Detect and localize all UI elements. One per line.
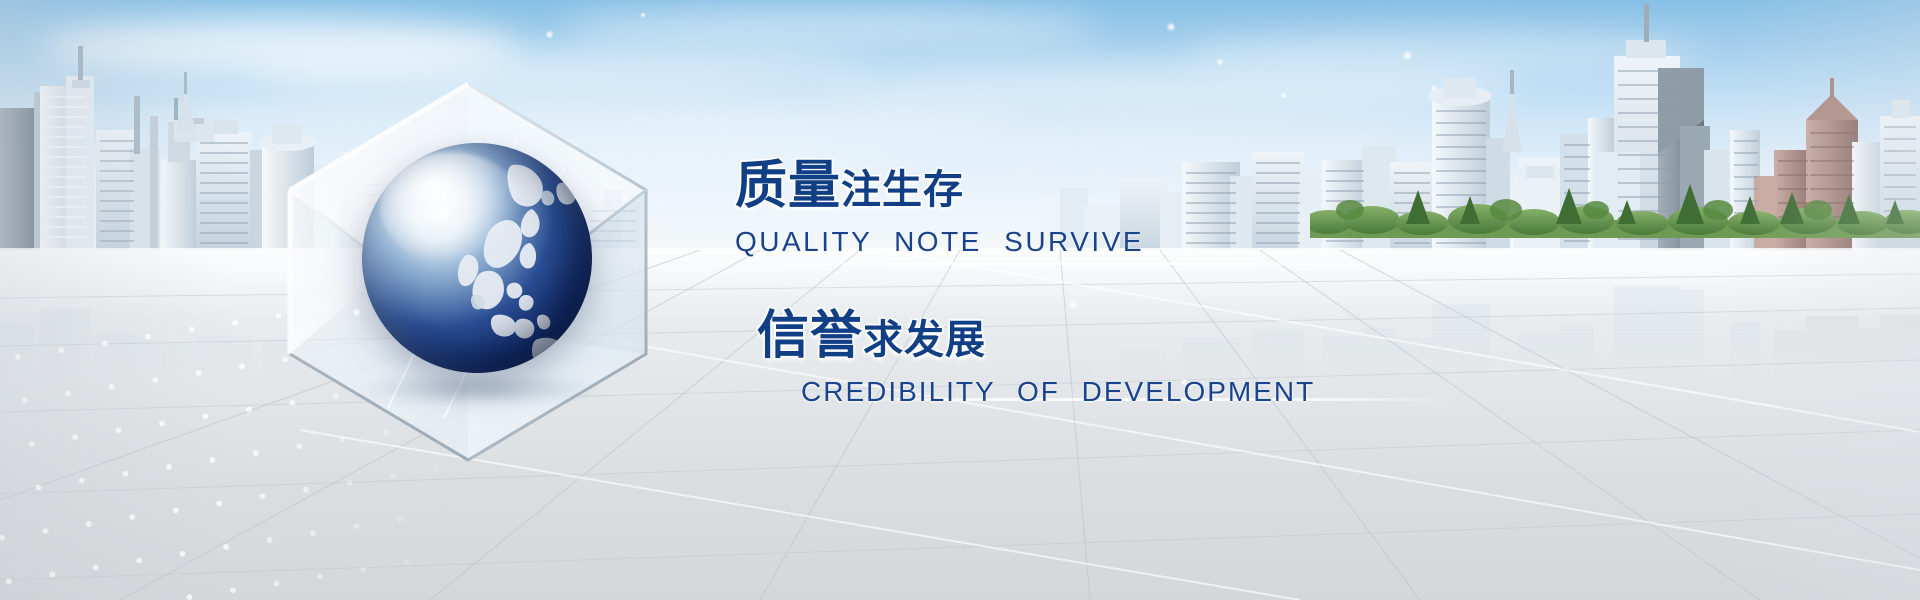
headline-quality: 质量 注生存 bbox=[735, 160, 1435, 212]
sparkle bbox=[1430, 84, 1438, 92]
slogan-text-block: 质量 注生存 QUALITY NOTE SURVIVE 信誉 求发展 CREDI… bbox=[735, 160, 1435, 408]
sparkle bbox=[436, 206, 450, 220]
headline-credibility-primary: 信誉 bbox=[757, 310, 863, 362]
sparkle bbox=[724, 268, 731, 275]
headline-credibility-secondary: 求发展 bbox=[863, 320, 986, 362]
subtitle-credibility: CREDIBILITY OF DEVELOPMENT bbox=[801, 376, 1435, 408]
sparkle bbox=[640, 12, 646, 18]
globe-rim-shading bbox=[362, 143, 592, 373]
sparkle bbox=[352, 308, 361, 317]
slogan-row-quality: 质量 注生存 QUALITY NOTE SURVIVE bbox=[735, 160, 1435, 258]
headline-quality-secondary: 注生存 bbox=[841, 170, 964, 212]
hero-banner: 质量 注生存 QUALITY NOTE SURVIVE 信誉 求发展 CREDI… bbox=[0, 0, 1920, 600]
slogan-row-credibility: 信誉 求发展 CREDIBILITY OF DEVELOPMENT bbox=[735, 310, 1435, 408]
globe-shadow bbox=[352, 372, 602, 406]
headline-quality-primary: 质量 bbox=[735, 160, 841, 212]
sparkle bbox=[1280, 92, 1287, 99]
headline-credibility: 信誉 求发展 bbox=[757, 310, 1435, 362]
globe-sphere bbox=[362, 143, 592, 373]
sparkle bbox=[1166, 22, 1176, 32]
sparkle bbox=[1402, 50, 1413, 61]
sparkle bbox=[1216, 58, 1224, 66]
sparkle bbox=[545, 30, 554, 39]
subtitle-quality: QUALITY NOTE SURVIVE bbox=[735, 226, 1435, 258]
